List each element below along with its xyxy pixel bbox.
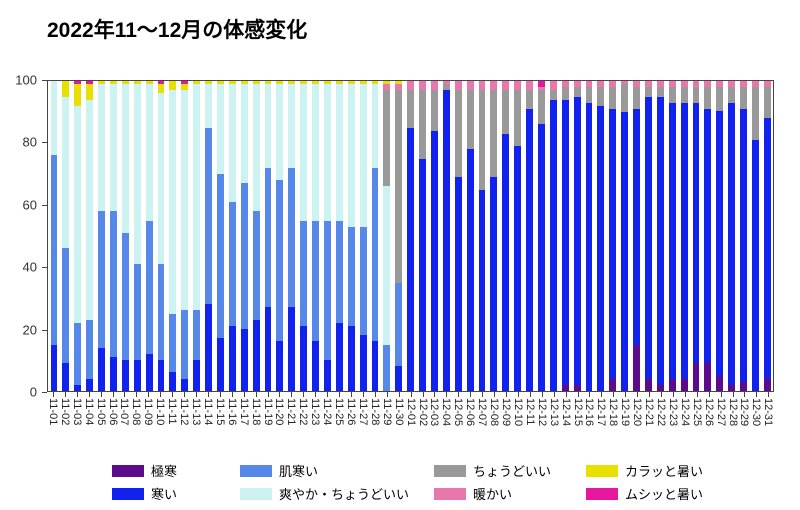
legend-item[interactable]: ムシッと暑い [586,484,752,503]
bar-stack [467,81,474,391]
bar-stack [514,81,521,391]
bar-stack [62,81,69,391]
bar-segment [229,326,236,391]
x-tick-mark [488,392,500,397]
bar-column[interactable] [203,81,215,391]
x-tick-mark [619,392,631,397]
bar-segment [550,100,557,391]
bar-segment [288,307,295,391]
x-tick-label: 11-16 [226,398,238,425]
x-tick-mark [643,392,655,397]
legend-swatch-icon [434,488,466,500]
bar-stack [538,81,545,391]
x-tick-mark [190,392,202,397]
bar-segment [526,109,533,391]
bar-column[interactable] [619,81,631,391]
bar-segment [336,221,343,323]
bar-column[interactable] [131,81,143,391]
bar-stack [74,81,81,391]
bar-segment [51,155,58,344]
x-tick-mark [572,392,584,397]
x-tick-mark [71,392,83,397]
bar-column[interactable] [690,81,702,391]
bars-layer [48,81,773,391]
y-tick-label: 40 [23,260,37,275]
bar-segment [86,379,93,391]
x-tick-mark [345,392,357,397]
bar-segment [586,103,593,391]
y-tick-label: 80 [23,135,37,150]
x-tick-label: 12-05 [452,398,464,426]
bar-stack [419,81,426,391]
bar-column[interactable] [571,81,583,391]
y-axis: 020406080100 [0,80,47,392]
x-tick-mark [691,392,703,397]
bar-segment [467,81,474,90]
bar-column[interactable] [500,81,512,391]
x-tick-label: 11-06 [107,398,119,425]
bar-column[interactable] [107,81,119,391]
bar-stack [241,81,248,391]
bar-segment [574,87,581,96]
bar-column[interactable] [631,81,643,391]
bar-segment [74,106,81,323]
bar-column[interactable] [369,81,381,391]
legend-label: 寒い [151,484,177,503]
bar-segment [514,90,521,146]
bar-stack [669,81,676,391]
bar-column[interactable] [464,81,476,391]
x-tick-mark [583,392,595,397]
bar-stack [657,81,664,391]
x-tick-label: 11-10 [154,398,166,425]
bar-stack [134,81,141,391]
bar-column[interactable] [417,81,429,391]
legend-item[interactable]: カラッと暑い [586,461,752,480]
bar-segment [490,177,497,391]
bar-segment [62,248,69,363]
x-tick-mark [727,392,739,397]
x-tick-label: 12-02 [417,398,429,426]
bar-segment [360,84,367,227]
bar-segment [146,221,153,354]
legend-item[interactable]: ちょうどいい [434,461,586,480]
bar-segment [312,341,319,391]
legend-item[interactable]: 寒い [112,484,240,503]
bar-column[interactable] [452,81,464,391]
bar-segment [704,109,711,363]
legend-item[interactable]: 爽やか・ちょうどいい [240,484,434,503]
bar-segment [740,87,747,109]
legend-label: ちょうどいい [473,461,551,480]
bar-stack [336,81,343,391]
bar-segment [134,264,141,360]
bar-column[interactable] [274,81,286,391]
x-tick-mark [142,392,154,397]
bar-segment [300,326,307,391]
x-tick-mark [381,392,393,397]
bar-segment [324,360,331,391]
bar-segment [538,124,545,391]
bar-segment [538,90,545,124]
bar-stack [526,81,533,391]
bar-segment [407,90,414,127]
x-axis: 11-0111-0211-0311-0411-0511-0611-0711-08… [47,392,774,454]
bar-segment [158,360,165,391]
x-tick-label: 12-15 [572,398,584,426]
bar-column[interactable] [440,81,452,391]
bar-segment [51,345,58,392]
bar-stack [98,81,105,391]
bar-segment [360,227,367,336]
bar-segment [633,345,640,392]
bar-segment [526,90,533,109]
x-tick-label: 12-03 [428,398,440,426]
bar-segment [158,93,165,264]
x-tick-mark [47,392,59,397]
bar-segment [407,81,414,90]
x-tick-mark [548,392,560,397]
bar-stack [752,81,759,391]
bar-segment [419,159,426,392]
bar-segment [300,221,307,326]
bar-column[interactable] [607,81,619,391]
bar-segment [158,264,165,360]
x-tick-label: 11-05 [95,398,107,425]
bar-segment [181,90,188,310]
bar-segment [229,202,236,326]
bar-segment [169,90,176,313]
bar-segment [372,341,379,391]
bar-segment [621,84,628,112]
x-tick-label: 12-22 [655,398,667,426]
x-tick-mark [154,392,166,397]
bar-segment [455,177,462,391]
bar-column[interactable] [750,81,762,391]
x-tick-label: 11-27 [357,398,369,425]
bar-segment [669,87,676,103]
bar-segment [514,146,521,391]
bar-segment [633,87,640,109]
x-tick-mark [238,392,250,397]
bar-segment [574,385,581,391]
bar-segment [324,84,331,220]
bar-segment [383,90,390,186]
bar-segment [253,84,260,211]
bar-column[interactable] [333,81,345,391]
legend-swatch-icon [240,465,272,477]
legend-swatch-icon [112,465,144,477]
bar-segment [704,363,711,391]
bar-column[interactable] [583,81,595,391]
bar-column[interactable] [536,81,548,391]
bar-stack [300,81,307,391]
y-tick-label: 20 [23,322,37,337]
bar-segment [455,81,462,90]
bar-stack [169,81,176,391]
bar-column[interactable] [191,81,203,391]
bar-stack [597,81,604,391]
x-tick-label: 11-22 [297,398,309,425]
bar-stack [574,81,581,391]
bar-segment [288,84,295,168]
y-tick-label: 0 [30,385,37,400]
bar-segment [431,90,438,130]
bar-stack [479,81,486,391]
x-tick-mark [655,392,667,397]
x-tick-label: 12-01 [405,398,417,426]
bar-segment [181,310,188,378]
bar-column[interactable] [214,81,226,391]
x-tick-mark [59,392,71,397]
x-tick-mark [321,392,333,397]
x-tick-mark [214,392,226,397]
bar-segment [62,81,69,97]
bar-stack [312,81,319,391]
bar-segment [110,211,117,357]
x-tick-mark [715,392,727,397]
x-tick-label: 12-08 [488,398,500,426]
x-tick-label: 12-07 [476,398,488,426]
x-tick-label: 12-06 [464,398,476,426]
bar-column[interactable] [96,81,108,391]
bar-stack [51,81,58,391]
bar-column[interactable] [262,81,274,391]
bar-segment [645,379,652,391]
x-tick-mark [226,392,238,397]
x-tick-label: 12-25 [691,398,703,426]
y-tick-label: 60 [23,197,37,212]
bar-stack [455,81,462,391]
bar-stack [217,81,224,391]
bar-column[interactable] [179,81,191,391]
bar-segment [514,81,521,90]
bar-segment [681,87,688,103]
bar-column[interactable] [643,81,655,391]
bar-segment [217,84,224,174]
bar-column[interactable] [761,81,773,391]
bar-stack [253,81,260,391]
bar-column[interactable] [119,81,131,391]
bar-segment [253,320,260,391]
bar-column[interactable] [381,81,393,391]
bar-column[interactable] [726,81,738,391]
chart-container: 2022年11〜12月の体感変化 020406080100 11-0111-02… [0,0,800,510]
legend-label: ムシッと暑い [625,484,703,503]
x-tick-label: 12-31 [762,398,774,426]
bar-column[interactable] [595,81,607,391]
bar-column[interactable] [524,81,536,391]
bar-segment [455,90,462,177]
bar-segment [62,363,69,391]
legend-label: 暖かい [473,484,512,503]
bar-column[interactable] [393,81,405,391]
bar-column[interactable] [84,81,96,391]
bar-column[interactable] [298,81,310,391]
x-tick-label: 12-10 [512,398,524,426]
bar-segment [276,180,283,341]
bar-column[interactable] [702,81,714,391]
bar-column[interactable] [60,81,72,391]
x-tick-label: 12-24 [679,398,691,426]
x-tick-mark [464,392,476,397]
legend-swatch-icon [240,488,272,500]
bar-column[interactable] [547,81,559,391]
bar-segment [597,87,604,106]
x-tick-mark [95,392,107,397]
x-tick-label: 11-08 [130,398,142,425]
legend-swatch-icon [434,465,466,477]
bar-column[interactable] [654,81,666,391]
bar-column[interactable] [250,81,262,391]
bar-column[interactable] [143,81,155,391]
bar-stack [609,81,616,391]
bar-segment [597,106,604,391]
bar-segment [704,87,711,109]
x-tick-mark [202,392,214,397]
bar-segment [86,84,93,100]
bar-stack [502,81,509,391]
x-tick-label: 12-26 [703,398,715,426]
chart-legend: 極寒肌寒いちょうどいいカラッと暑い寒い爽やか・ちょうどいい暖かいムシッと暑い [112,459,752,505]
bar-segment [657,385,664,391]
x-tick-label: 12-12 [536,398,548,426]
bar-segment [217,174,224,338]
bar-segment [146,354,153,391]
bar-column[interactable] [666,81,678,391]
x-tick-label: 11-30 [393,398,405,425]
bar-column[interactable] [48,81,60,391]
bar-stack [181,81,188,391]
x-tick-mark [178,392,190,397]
x-tick-label: 11-11 [166,398,178,425]
bar-stack [431,81,438,391]
bar-column[interactable] [167,81,179,391]
x-tick-label: 11-24 [321,398,333,425]
bar-segment [431,131,438,391]
x-tick-mark [393,392,405,397]
bar-column[interactable] [476,81,488,391]
bar-segment [86,320,93,379]
x-tick-label: 12-09 [500,398,512,426]
bar-segment [657,97,664,385]
bar-segment [562,100,569,385]
bar-segment [574,97,581,385]
bar-column[interactable] [286,81,298,391]
legend-item[interactable]: 極寒 [112,461,240,480]
bar-segment [122,233,129,360]
bar-column[interactable] [357,81,369,391]
bar-segment [348,227,355,326]
bar-segment [74,323,81,385]
bar-segment [764,87,771,118]
bar-segment [98,348,105,391]
x-tick-label: 12-18 [607,398,619,426]
bar-segment [502,90,509,133]
x-tick-mark [524,392,536,397]
bar-stack [740,81,747,391]
bar-column[interactable] [738,81,750,391]
bar-segment [110,357,117,391]
x-tick-mark [405,392,417,397]
x-tick-label: 11-28 [369,398,381,425]
x-tick-mark [119,392,131,397]
legend-item[interactable]: 暖かい [434,484,586,503]
bar-column[interactable] [678,81,690,391]
bar-segment [181,379,188,391]
bar-segment [479,190,486,392]
legend-label: 爽やか・ちょうどいい [279,484,409,503]
x-tick-label: 12-28 [727,398,739,426]
x-tick-mark [738,392,750,397]
bar-stack [288,81,295,391]
x-tick-label: 11-03 [71,398,83,425]
bar-segment [134,360,141,391]
bar-segment [146,84,153,220]
bar-segment [479,81,486,90]
x-tick-label: 12-14 [560,398,572,426]
x-tick-mark [83,392,95,397]
bar-column[interactable] [345,81,357,391]
bar-column[interactable] [155,81,167,391]
bar-segment [265,168,272,308]
legend-item[interactable]: 肌寒い [240,461,434,480]
x-tick-label: 12-20 [631,398,643,426]
bar-column[interactable] [310,81,322,391]
bar-column[interactable] [321,81,333,391]
bar-column[interactable] [72,81,84,391]
bar-column[interactable] [714,81,726,391]
bar-column[interactable] [238,81,250,391]
bar-stack [645,81,652,391]
bar-segment [657,87,664,96]
bar-segment [193,360,200,391]
bar-column[interactable] [559,81,571,391]
bar-stack [621,81,628,391]
bar-segment [645,97,652,379]
bar-segment [562,87,569,99]
bar-stack [716,81,723,391]
x-tick-label: 12-29 [738,398,750,426]
bar-segment [372,168,379,342]
x-tick-label: 12-27 [715,398,727,426]
x-tick-mark [130,392,142,397]
bar-segment [479,90,486,189]
bar-segment [51,81,58,155]
bar-segment [526,81,533,90]
x-tick-label: 11-04 [83,398,95,425]
bar-segment [467,149,474,391]
bar-segment [110,84,117,211]
legend-swatch-icon [586,465,618,477]
bar-segment [752,140,759,391]
x-tick-label: 12-21 [643,398,655,426]
bar-stack [728,81,735,391]
bar-column[interactable] [488,81,500,391]
x-tick-label: 12-13 [548,398,560,426]
bar-column[interactable] [226,81,238,391]
bar-column[interactable] [429,81,441,391]
bar-segment [265,84,272,168]
bar-stack [158,81,165,391]
x-tick-mark [309,392,321,397]
x-tick-mark [762,392,774,397]
bar-column[interactable] [512,81,524,391]
bar-segment [550,90,557,99]
bar-column[interactable] [405,81,417,391]
x-tick-label: 11-23 [309,398,321,425]
bar-segment [609,87,616,109]
